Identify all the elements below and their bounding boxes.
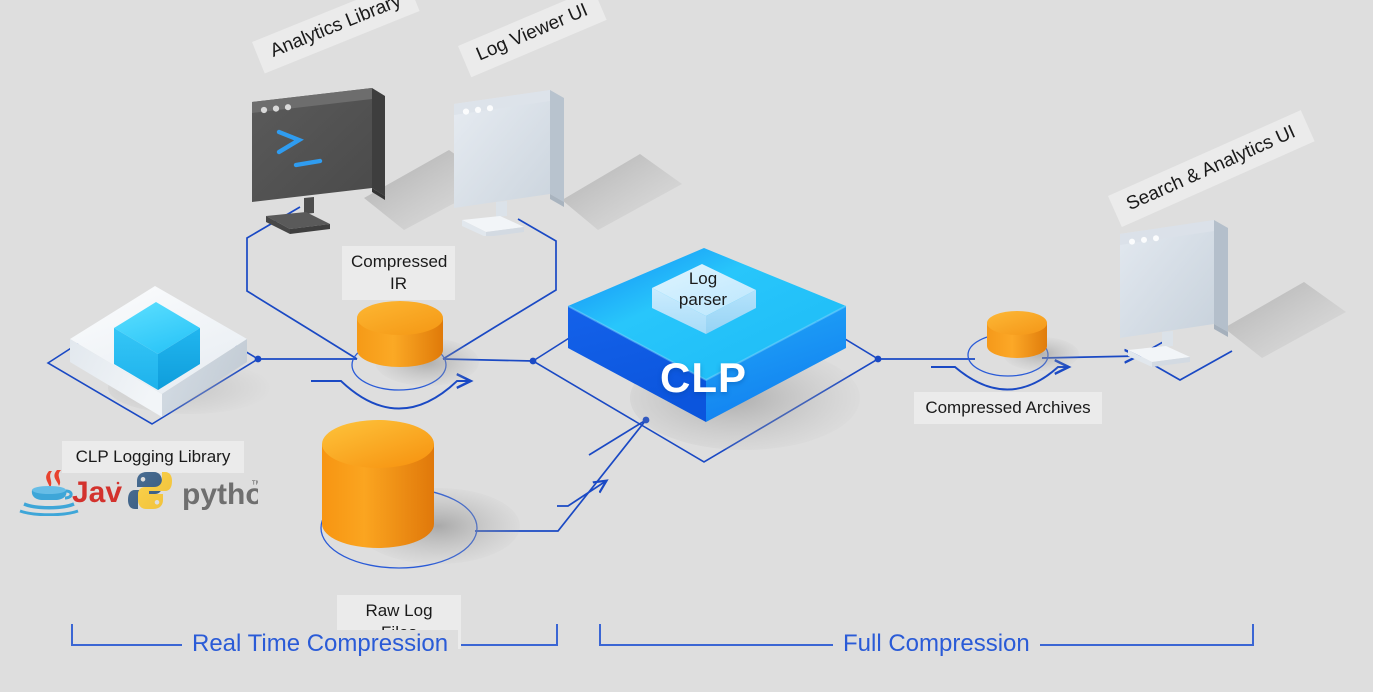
diagram-canvas: CLP Logging Library Java — [0, 0, 1373, 692]
compressed-archives-node[interactable] — [985, 310, 1085, 393]
section-label-real-time: Real Time Compression — [182, 630, 458, 658]
search-analytics-ui-node[interactable] — [1118, 210, 1358, 375]
compressed-ir-node[interactable] — [355, 300, 485, 410]
python-tm-mark: ™ — [251, 479, 258, 491]
clp-node[interactable] — [560, 228, 860, 473]
label-compressed-archives: Compressed Archives — [914, 392, 1102, 424]
label-compressed-ir: Compressed IR — [342, 246, 455, 300]
clp-inner-label: Log parser — [648, 268, 758, 310]
java-logo: Java — [14, 466, 122, 521]
label-log-viewer-ui: Log Viewer UI — [458, 0, 607, 77]
raw-log-files-node[interactable] — [318, 414, 538, 589]
section-label-full: Full Compression — [833, 630, 1040, 658]
python-logo-text: python — [182, 478, 258, 511]
label-analytics-library: Analytics Library — [252, 0, 420, 74]
clp-title: CLP — [660, 354, 747, 402]
python-logo: python ™ — [128, 470, 258, 519]
log-viewer-ui-node[interactable] — [450, 76, 690, 241]
clp-logging-library-node[interactable] — [62, 272, 272, 427]
java-logo-text: Java — [72, 476, 122, 509]
